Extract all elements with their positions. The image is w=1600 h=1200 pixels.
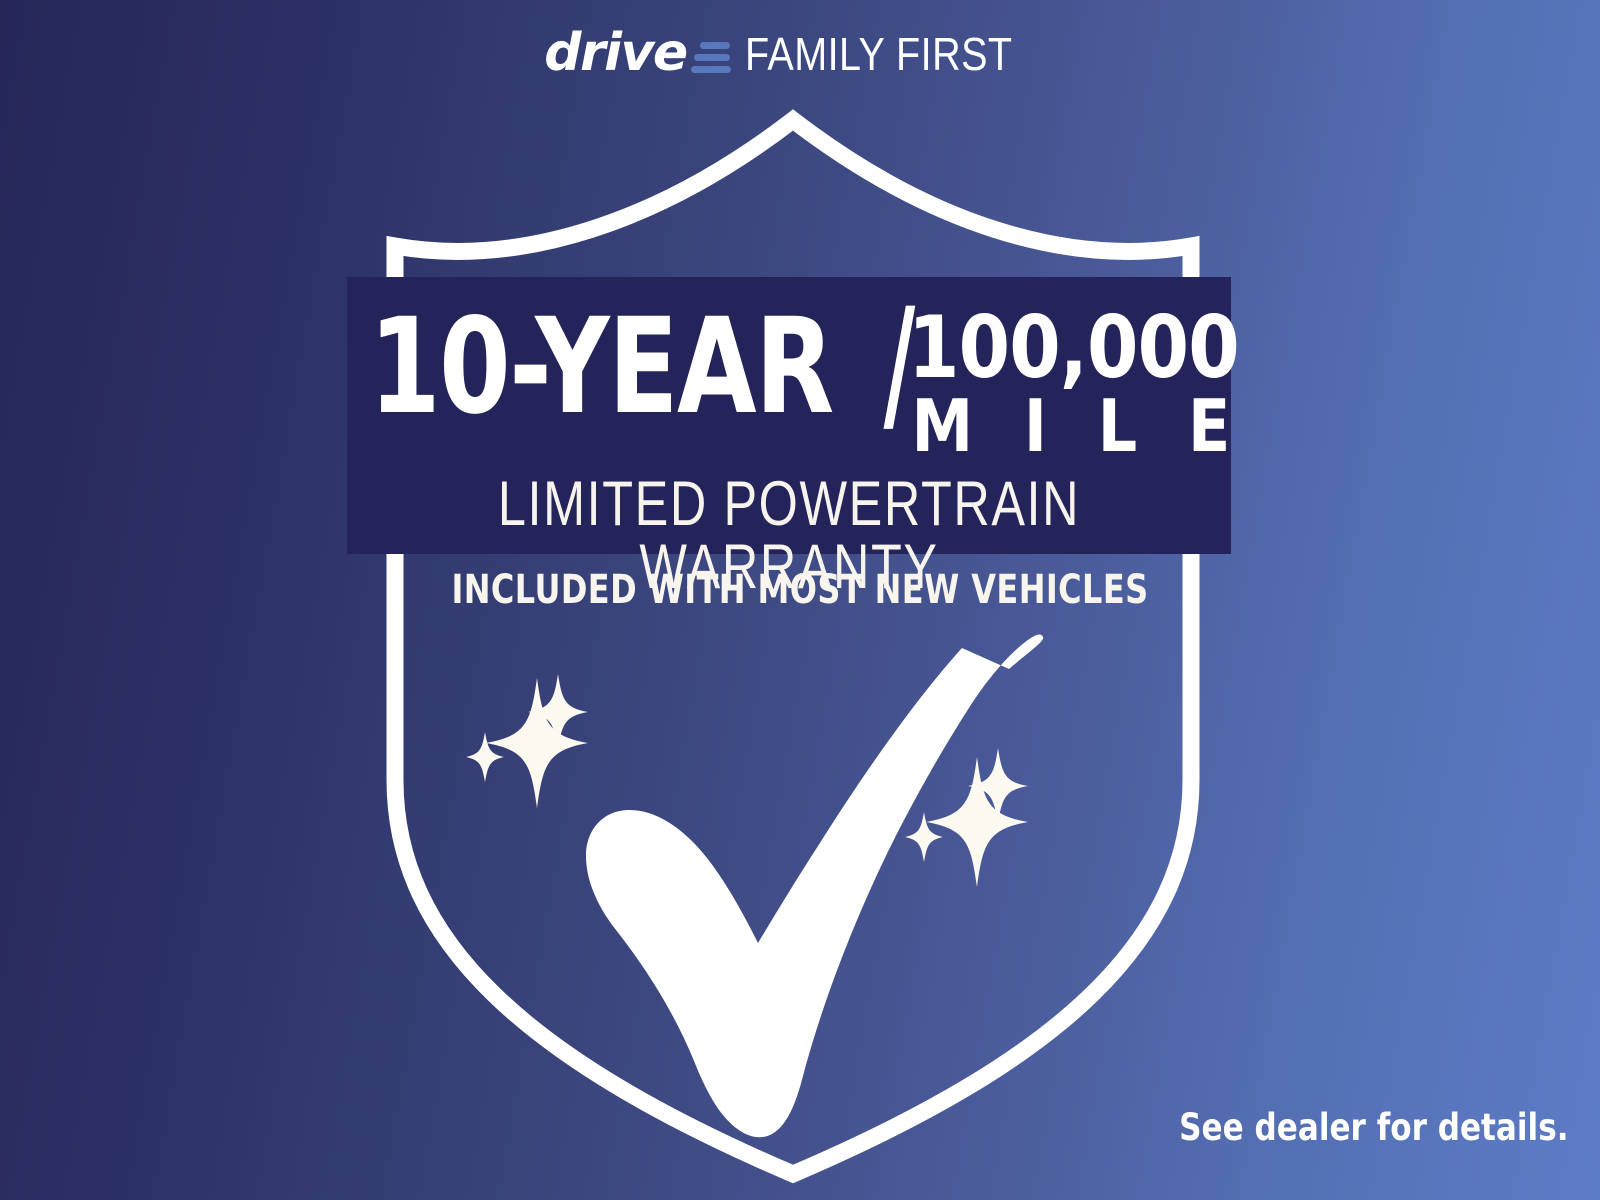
warranty-headline: 10-YEAR / 100,000 M I L E — [369, 303, 1300, 462]
sparkle-star-icon — [466, 674, 588, 808]
headline-years: 10-YEAR — [369, 303, 833, 432]
disclaimer-text: See dealer for details. — [1179, 1109, 1568, 1146]
checkmark-icon — [586, 635, 1043, 1138]
warranty-promo-banner: drive FAMILY FIRST 10-YEAR / — [0, 0, 1600, 1200]
included-note: INCLUDED WITH MOST NEW VEHICLES — [160, 570, 1440, 610]
headline-mile-word: M I L E — [908, 390, 1245, 462]
headline-mileage-group: 100,000 M I L E — [908, 309, 1300, 462]
warranty-banner-box: 10-YEAR / 100,000 M I L E LIMITED POWERT… — [347, 277, 1231, 554]
headline-miles: 100,000 — [908, 309, 1245, 388]
